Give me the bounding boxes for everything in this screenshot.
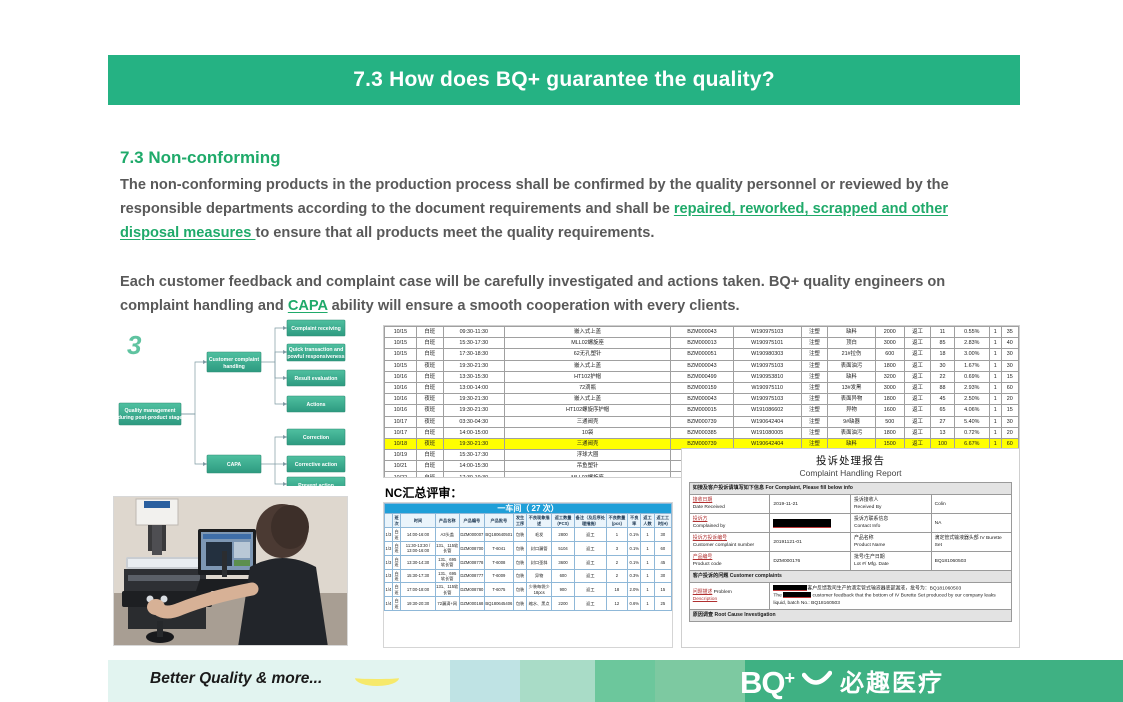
nc-table-row[interactable]: 1/4白班17:00-18:00131、115软长管DZM008780T-607…: [385, 583, 672, 597]
capa-link[interactable]: CAPA: [288, 298, 328, 314]
nc-cell-5: 包装: [513, 583, 526, 597]
flow-node-branch2-label: CAPA: [227, 462, 242, 468]
flow-child-1-2-label-line1: Quick transaction and: [289, 347, 343, 353]
cell-hours: 40: [1001, 338, 1019, 349]
cell-defect: 表面油污: [828, 427, 876, 438]
cell-action: 返工: [904, 360, 931, 371]
nc-cell-1: 17:00-18:00: [401, 583, 435, 597]
table-row[interactable]: 10/16白班13:00-14:0072滴瓶BZM000159W19097511…: [385, 382, 1019, 393]
cell-product: MLL03螺旋座: [504, 472, 670, 478]
cell-time: 19:30-21:30: [443, 438, 504, 449]
cell-shift: 白班: [416, 371, 443, 382]
report-field2-value-0[interactable]: Colin: [931, 495, 1012, 514]
nc-cell-8: 返工: [575, 569, 607, 583]
nc-cell-10: 0.3%: [628, 569, 641, 583]
cell-shift: 白班: [416, 327, 443, 338]
nc-cell-7: 2200: [552, 597, 575, 611]
report-title-cn: 投诉处理报告: [682, 449, 1019, 468]
cell-people: 1: [989, 371, 1001, 382]
cell-shift: 夜班: [416, 394, 443, 405]
smile-icon: [355, 670, 399, 686]
nc-header-index: [385, 514, 393, 528]
nc-cell-9: 2: [606, 555, 627, 569]
cell-lot: W190975103: [733, 327, 801, 338]
cell-shift: 夜班: [416, 360, 443, 371]
flow-child-2-3-label: Prevent action: [298, 483, 334, 486]
logo-chinese-name: 必趣医疗: [840, 663, 944, 698]
cell-action: 返工: [904, 405, 931, 416]
cell-process: 注塑: [801, 416, 828, 427]
nc-table-row[interactable]: 1/3白班13:30-14:30131、695软长管DZM008778T-600…: [385, 555, 672, 569]
nc-cell-3: DZM008778: [459, 555, 484, 569]
section-heading: 7.3 Non-conforming: [120, 148, 281, 168]
nc-cell-8: 返工: [575, 597, 607, 611]
report-section-complaint-info-label: 如接及客户投诉请填写如下信息 For Complaint, Please fil…: [689, 483, 1012, 495]
report-field-row[interactable]: 投诉方Complained by投诉方联系信息Contact InfoNA: [689, 514, 1012, 533]
cell-people: 1: [989, 338, 1001, 349]
cell-rate: 0.69%: [954, 371, 989, 382]
flow-node-root[interactable]: [119, 403, 181, 425]
cell-code: BZM000159: [671, 382, 734, 393]
footer-tagline: Better Quality & more...: [150, 670, 322, 688]
cell-ng: 30: [931, 360, 954, 371]
nc-cell-4: T-6075: [484, 583, 513, 597]
nc-cell-3: DZM008777: [459, 569, 484, 583]
nc-column-header-9: 不良数量(pcs): [606, 514, 627, 528]
cell-people: 1: [989, 360, 1001, 371]
cell-lot: W190975103: [733, 360, 801, 371]
nc-cell-12: 45: [654, 555, 671, 569]
nc-cell-3: DZM008700: [459, 542, 484, 556]
report-problem-value[interactable]: 客户反馈我司生产的滴定管式输液器底部漏液，批号为：BQ181060503The …: [770, 583, 1012, 610]
report-section-customer-complaints: 客户投诉的问题 Customer complaints: [689, 571, 1012, 583]
report-field2-label-0: 投诉接收人Received By: [850, 495, 931, 514]
report-field-label-2: 投诉方投诉编号Customer complaint number: [689, 533, 770, 552]
nc-cell-0: 白班: [392, 569, 401, 583]
nc-column-header-0: 班次: [392, 514, 401, 528]
nc-column-header-1: 时间: [401, 514, 435, 528]
flow-child-1-3-label: Result evaluation: [295, 376, 338, 382]
footer-band-3: [450, 660, 520, 702]
table-row[interactable]: 10/15夜班19:30-21:30嵌入式上盖BZM000043W1909751…: [385, 360, 1019, 371]
report-section-complaint-info: 如接及客户投诉请填写如下信息 For Complaint, Please fil…: [689, 483, 1012, 495]
cell-defect: 9#缺器: [828, 416, 876, 427]
cell-action: 返工: [904, 338, 931, 349]
nc-cell-7: 900: [552, 583, 575, 597]
cell-date: 10/15: [385, 349, 417, 360]
nc-cell-6: 封口歪斜: [527, 555, 552, 569]
cell-date: 10/17: [385, 416, 417, 427]
cell-date: 10/15: [385, 338, 417, 349]
cell-process: 注塑: [801, 405, 828, 416]
flow-node-root-label-line2: during post-product stage: [118, 415, 183, 421]
cell-product: 嵌入式上盖: [504, 360, 670, 371]
cell-product: MLL02螺旋座: [504, 338, 670, 349]
cell-rate: 0.55%: [954, 327, 989, 338]
nc-column-header-11: 返工人数: [641, 514, 654, 528]
cell-qty: 500: [875, 416, 904, 427]
cell-lot: W191086602: [733, 405, 801, 416]
report-section-root-cause: 原因调查 Root Cause Investigation: [689, 609, 1012, 621]
report-field-row[interactable]: 投诉方投诉编号Customer complaint number20191121…: [689, 533, 1012, 552]
nc-cell-9: 18: [606, 583, 627, 597]
cell-date: 10/17: [385, 427, 417, 438]
cell-process: 注塑: [801, 382, 828, 393]
report-field-label-0: 接收日期Date Received: [689, 495, 770, 514]
report-field-label-1: 投诉方Complained by: [689, 514, 770, 533]
complaint-handling-report-panel[interactable]: 投诉处理报告 Complaint Handling Report 如接及客户投诉…: [681, 448, 1020, 648]
cell-product: 嵌入式上盖: [504, 327, 670, 338]
nc-cell-10: 0.1%: [628, 542, 641, 556]
cell-hours: 30: [1001, 349, 1019, 360]
cell-shift: 白班: [416, 382, 443, 393]
nc-banner-row: 一车间（ 27 次）: [385, 504, 672, 514]
nc-row-index: 1/3: [385, 528, 393, 542]
cell-time: 19:30-21:30: [443, 360, 504, 371]
cell-process: 注塑: [801, 349, 828, 360]
nc-cell-10: 0.1%: [628, 528, 641, 542]
flow-child-1-1-label: Complaint receiving: [291, 326, 341, 332]
nc-cell-2: 131、115软长管: [435, 542, 459, 556]
cell-code: BZM000739: [671, 416, 734, 427]
cell-qty: 3200: [875, 371, 904, 382]
report-field-row[interactable]: 接收日期Date Received2019-11-21投诉接收人Received…: [689, 495, 1012, 514]
nc-summary-table: 一车间（ 27 次）班次时间产品名称产品编号产品批号发生工序不良现象描述返工数量…: [384, 503, 672, 611]
cell-lot: W190975110: [733, 382, 801, 393]
table-row[interactable]: 10/17夜班03:30-04:30三通阀壳BZM000739W19064240…: [385, 416, 1019, 427]
paragraph-non-conforming: The non-conforming products in the produ…: [120, 173, 1010, 245]
nc-cell-11: 1: [641, 542, 654, 556]
report-section-customer-complaints-label: 客户投诉的问题 Customer complaints: [689, 571, 1012, 583]
nc-cell-0: 白班: [392, 528, 401, 542]
nc-row-index: 1/3: [385, 542, 393, 556]
nc-column-header-8: 备注（及后序处理措施）: [575, 514, 607, 528]
cell-shift: 白班: [416, 427, 443, 438]
report-field-row[interactable]: 产品编号Product codeDZM000176批号/生产日期Lot #/ M…: [689, 552, 1012, 571]
nc-row-index: 1/4: [385, 597, 393, 611]
nc-cell-8: 返工: [575, 542, 607, 556]
cell-qty: 1800: [875, 360, 904, 371]
cell-process: 注塑: [801, 394, 828, 405]
nc-table-body: 一车间（ 27 次）班次时间产品名称产品编号产品批号发生工序不良现象描述返工数量…: [385, 504, 672, 611]
cell-product: 三通阀壳: [504, 438, 670, 449]
cell-rate: 1.67%: [954, 360, 989, 371]
cell-process: 注塑: [801, 327, 828, 338]
cell-time: 14:00-15:30: [443, 461, 504, 472]
report-field2-label-1: 投诉方联系信息Contact Info: [850, 514, 931, 533]
table-row[interactable]: 10/15白班17:30-18:3062无孔塑针BZM000051W190980…: [385, 349, 1019, 360]
cell-date: 10/16: [385, 405, 417, 416]
nc-cell-11: 1: [641, 569, 654, 583]
cell-shift: 夜班: [416, 416, 443, 427]
cell-action: 返工: [904, 327, 931, 338]
table-row[interactable]: 10/15白班09:30-11:30嵌入式上盖BZM000043W1909751…: [385, 327, 1019, 338]
nc-summary-panel[interactable]: 一车间（ 27 次）班次时间产品名称产品编号产品批号发生工序不良现象描述返工数量…: [383, 502, 673, 648]
nc-cell-12: 30: [654, 569, 671, 583]
cell-code: BZM000015: [671, 405, 734, 416]
cell-hours: 20: [1001, 427, 1019, 438]
page-title: 7.3 How does BQ+ guarantee the quality?: [353, 68, 774, 92]
cell-shift: 夜班: [416, 438, 443, 449]
report-field2-value-2[interactable]: 滴定管式输液器头部 IV Burette Set: [931, 533, 1012, 552]
nc-cell-0: 白班: [392, 542, 401, 556]
report-field-value-0[interactable]: 2019-11-21: [770, 495, 851, 514]
nc-cell-11: 1: [641, 555, 654, 569]
cell-qty: 3000: [875, 338, 904, 349]
nc-header-row: 班次时间产品名称产品编号产品批号发生工序不良现象描述返工数量(PCS)备注（及后…: [385, 514, 672, 528]
cell-time: 13:30-15:30: [443, 371, 504, 382]
report-section-root-cause-label: 原因调查 Root Cause Investigation: [689, 609, 1012, 621]
table-row[interactable]: 10/16夜班19:30-21:30嵌入式上盖BZM000043W1909751…: [385, 394, 1019, 405]
cell-people: 1: [989, 405, 1001, 416]
nc-table-row[interactable]: 1/4白班19:30-20:3072漏滴+网DZM000168BQ1806454…: [385, 597, 672, 611]
cell-process: 注塑: [801, 338, 828, 349]
nc-cell-3: DZM008780: [459, 583, 484, 597]
cell-qty: 1600: [875, 405, 904, 416]
nc-cell-9: 3: [606, 542, 627, 556]
nc-cell-4: T-6041: [484, 542, 513, 556]
cell-ng: 18: [931, 349, 954, 360]
cell-product: 10袋: [504, 427, 670, 438]
cell-ng: 88: [931, 382, 954, 393]
nc-column-header-4: 产品批号: [484, 514, 513, 528]
nc-cell-6: 封口漏管: [527, 542, 552, 556]
paragraph1-part-b: to ensure that all products meet the qua…: [255, 225, 654, 241]
cell-hours: 30: [1001, 416, 1019, 427]
nc-cell-12: 25: [654, 597, 671, 611]
cell-time: 19:30-21:30: [443, 394, 504, 405]
nc-column-header-2: 产品名称: [435, 514, 459, 528]
nc-summary-title: NC汇总评审：: [385, 484, 462, 501]
cell-rate: 2.93%: [954, 382, 989, 393]
nc-cell-4: BQ180645406: [484, 597, 513, 611]
nc-cell-1: 14:00-16:00: [401, 528, 435, 542]
report-field-label-3: 产品编号Product code: [689, 552, 770, 571]
cell-product: 吊鱼塑针: [504, 461, 670, 472]
nc-column-header-5: 发生工序: [513, 514, 526, 528]
cell-action: 返工: [904, 371, 931, 382]
nc-table-row[interactable]: 1/3白班15:30-17:30131、695软长管DZM008777T-600…: [385, 569, 672, 583]
flow-node-branch1-label-line2: handling: [223, 364, 245, 370]
cell-qty: 1800: [875, 427, 904, 438]
nc-row-index: 1/4: [385, 583, 393, 597]
nc-cell-5: 包装: [513, 597, 526, 611]
nc-cell-7: 2800: [552, 528, 575, 542]
nc-cell-0: 白班: [392, 583, 401, 597]
cell-code: BZM000013: [671, 338, 734, 349]
cell-defect: 缺料: [828, 371, 876, 382]
nc-cell-5: 包装: [513, 528, 526, 542]
cell-ng: 65: [931, 405, 954, 416]
nc-cell-4: BQ180640501: [484, 528, 513, 542]
cell-time: 09:30-11:30: [443, 327, 504, 338]
cell-ng: 13: [931, 427, 954, 438]
report-field2-label-3: 批号/生产日期Lot #/ Mfg. Date: [850, 552, 931, 571]
nc-cell-11: 1: [641, 597, 654, 611]
nc-cell-6: 毛发: [527, 528, 552, 542]
cell-people: 1: [989, 416, 1001, 427]
logo-swoosh-icon: [802, 669, 832, 693]
nc-table-row[interactable]: 1/3白班14:00-16:00A3头盖DZM000007BQ180640501…: [385, 528, 672, 542]
cell-code: BZM000043: [671, 327, 734, 338]
cell-date: 10/15: [385, 360, 417, 371]
cell-action: 返工: [904, 416, 931, 427]
cell-hours: 60: [1001, 382, 1019, 393]
cell-product: 62无孔塑针: [504, 349, 670, 360]
cell-defect: 表面异物: [828, 394, 876, 405]
cell-rate: 3.00%: [954, 349, 989, 360]
cell-process: 注塑: [801, 360, 828, 371]
cell-qty: 2000: [875, 327, 904, 338]
nc-cell-6: 缩水、黑点: [527, 597, 552, 611]
footer-band-6: [655, 660, 745, 702]
cell-code: BZM000385: [671, 427, 734, 438]
bq-logo: BQ+ 必趣医疗: [740, 662, 944, 699]
nc-cell-8: 返工: [575, 528, 607, 542]
nc-column-header-7: 返工数量(PCS): [552, 514, 575, 528]
table-row[interactable]: 10/16夜班19:30-21:30HT102螺旋序护帽BZM000015W19…: [385, 405, 1019, 416]
cell-people: 1: [989, 349, 1001, 360]
nc-cell-7: 5104: [552, 542, 575, 556]
cell-defect: 13#发黑: [828, 382, 876, 393]
slide-title-band: 7.3 How does BQ+ guarantee the quality?: [108, 55, 1020, 105]
cell-action: 返工: [904, 382, 931, 393]
nc-cell-1: 15:30-17:30: [401, 569, 435, 583]
cell-lot: W190975103: [733, 394, 801, 405]
cell-code: BZM000051: [671, 349, 734, 360]
flowchart-watermark-number: 3: [127, 330, 142, 360]
nc-cell-10: 0.6%: [628, 597, 641, 611]
cell-rate: 4.06%: [954, 405, 989, 416]
nc-cell-2: A3头盖: [435, 528, 459, 542]
nc-cell-5: 包装: [513, 542, 526, 556]
cell-action: 返工: [904, 349, 931, 360]
report-field-value-2[interactable]: 20191121-01: [770, 533, 851, 552]
cell-process: 注塑: [801, 427, 828, 438]
report-field-value-3[interactable]: DZM000176: [770, 552, 851, 571]
nc-cell-5: 包装: [513, 569, 526, 583]
cell-hours: 15: [1001, 371, 1019, 382]
report-field2-value-1[interactable]: NA: [931, 514, 1012, 533]
cell-rate: 0.72%: [954, 427, 989, 438]
nc-column-header-6: 不良现象描述: [527, 514, 552, 528]
cell-qty: 600: [875, 349, 904, 360]
table-row[interactable]: 10/16白班13:30-15:30HT102护帽BZM000499W19095…: [385, 371, 1019, 382]
cell-product: 三通阀壳: [504, 416, 670, 427]
cell-product: 嵌入式上盖: [504, 394, 670, 405]
cell-people: 1: [989, 382, 1001, 393]
cell-ng: 22: [931, 371, 954, 382]
cell-time: 19:30-21:30: [443, 405, 504, 416]
nc-cell-9: 1: [606, 528, 627, 542]
cell-code: BZM000499: [671, 371, 734, 382]
nc-cell-2: 131、695软长管: [435, 569, 459, 583]
nc-cell-4: T-6009: [484, 569, 513, 583]
cell-shift: 白班: [416, 450, 443, 461]
nc-cell-3: DZM000168: [459, 597, 484, 611]
nc-cell-12: 30: [654, 528, 671, 542]
flow-child-1-4-label: Actions: [306, 402, 325, 408]
cell-rate: 5.40%: [954, 416, 989, 427]
logo-wordmark: BQ+: [740, 662, 794, 699]
nc-cell-3: DZM000007: [459, 528, 484, 542]
flow-child-2-1-label: Correction: [303, 435, 329, 441]
nc-cell-2: 131、695软长管: [435, 555, 459, 569]
cell-shift: 白班: [416, 338, 443, 349]
report-field2-label-2: 产品名称Product Name: [850, 533, 931, 552]
nc-table-row[interactable]: 1/3白班11:30-13:30 / 13:00-16:00131、115软长管…: [385, 542, 672, 556]
cell-shift: 夜班: [416, 405, 443, 416]
cell-lot: W191080005: [733, 427, 801, 438]
nc-cell-11: 1: [641, 528, 654, 542]
nc-cell-2: 72漏滴+网: [435, 597, 459, 611]
cell-product: HT102螺旋序护帽: [504, 405, 670, 416]
cell-time: 17:30-18:30: [443, 349, 504, 360]
cell-people: 1: [989, 394, 1001, 405]
paragraph2-part-b: ability will ensure a smooth cooperation…: [328, 298, 740, 314]
report-field2-value-3[interactable]: BQ181060503: [931, 552, 1012, 571]
cell-process: 注塑: [801, 371, 828, 382]
cell-qty: 3000: [875, 382, 904, 393]
cell-ng: 85: [931, 338, 954, 349]
cell-date: 10/18: [385, 438, 417, 449]
nc-cell-12: 60: [654, 542, 671, 556]
cell-lot: W190975101: [733, 338, 801, 349]
cell-people: 1: [989, 427, 1001, 438]
cell-product: 72滴瓶: [504, 382, 670, 393]
report-title-en: Complaint Handling Report: [682, 468, 1019, 482]
nc-cell-10: 2.0%: [628, 583, 641, 597]
nc-cell-5: 包装: [513, 555, 526, 569]
cell-ng: 11: [931, 327, 954, 338]
cell-shift: 白班: [416, 472, 443, 478]
cell-code: BZM000043: [671, 360, 734, 371]
cell-defect: 缺料: [828, 327, 876, 338]
cell-date: 10/16: [385, 382, 417, 393]
nc-cell-6: 少装每袋少18pcs: [527, 583, 552, 597]
footer-band-1: [0, 660, 108, 702]
report-field-value-1[interactable]: [770, 514, 851, 533]
cell-defect: 顶白: [828, 338, 876, 349]
cell-lot: W190953810: [733, 371, 801, 382]
cell-lot: W190980303: [733, 349, 801, 360]
cell-rate: 2.50%: [954, 394, 989, 405]
table-row[interactable]: 10/17白班14:00-15:0010袋BZM000385W191080005…: [385, 427, 1019, 438]
cell-qty: 1800: [875, 394, 904, 405]
nc-column-header-10: 不良率: [628, 514, 641, 528]
footer-band-5: [595, 660, 655, 702]
cell-hours: 35: [1001, 327, 1019, 338]
nc-cell-0: 白班: [392, 597, 401, 611]
nc-cell-9: 2: [606, 569, 627, 583]
cell-hours: 15: [1001, 405, 1019, 416]
cell-action: 返工: [904, 394, 931, 405]
report-table-body: 如接及客户投诉请填写如下信息 For Complaint, Please fil…: [689, 483, 1012, 622]
cell-date: 10/16: [385, 371, 417, 382]
cell-time: 15:30-17:30: [443, 338, 504, 349]
nc-column-header-3: 产品编号: [459, 514, 484, 528]
table-row[interactable]: 10/15白班15:30-17:30MLL02螺旋座BZM000013W1909…: [385, 338, 1019, 349]
cell-date: 10/19: [385, 450, 417, 461]
report-problem-label: 问题描述 ProblemDescription: [689, 583, 770, 610]
cell-date: 10/16: [385, 394, 417, 405]
report-problem-row[interactable]: 问题描述 ProblemDescription客户反馈我司生产的滴定管式输液器底…: [689, 583, 1012, 610]
flow-child-1-2-label-line2: powful responsiveness: [287, 354, 344, 360]
cell-hours: 20: [1001, 394, 1019, 405]
cell-date: 10/15: [385, 327, 417, 338]
nc-cell-8: 返工: [575, 555, 607, 569]
cell-time: 14:00-15:00: [443, 427, 504, 438]
